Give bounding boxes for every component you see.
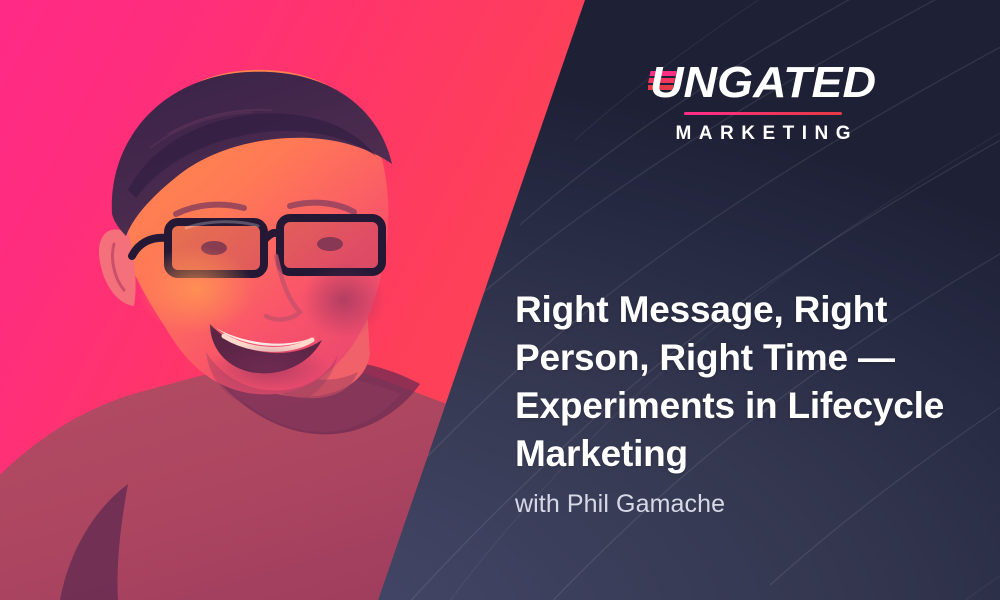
episode-copy: Right Message, Right Person, Right Time …	[515, 286, 985, 519]
logo-subtitle: MARKETING	[648, 124, 878, 143]
ungated-wordmark: UNGATED	[648, 55, 878, 107]
podcast-episode-banner: UNGATED MARKETING Right Message, Right P…	[0, 0, 1000, 600]
brand-logo: UNGATED MARKETING	[648, 55, 878, 143]
svg-text:UNGATED: UNGATED	[650, 58, 876, 107]
episode-byline: with Phil Gamache	[515, 490, 985, 519]
logo-divider-rule	[684, 112, 842, 115]
episode-title: Right Message, Right Person, Right Time …	[515, 286, 985, 478]
